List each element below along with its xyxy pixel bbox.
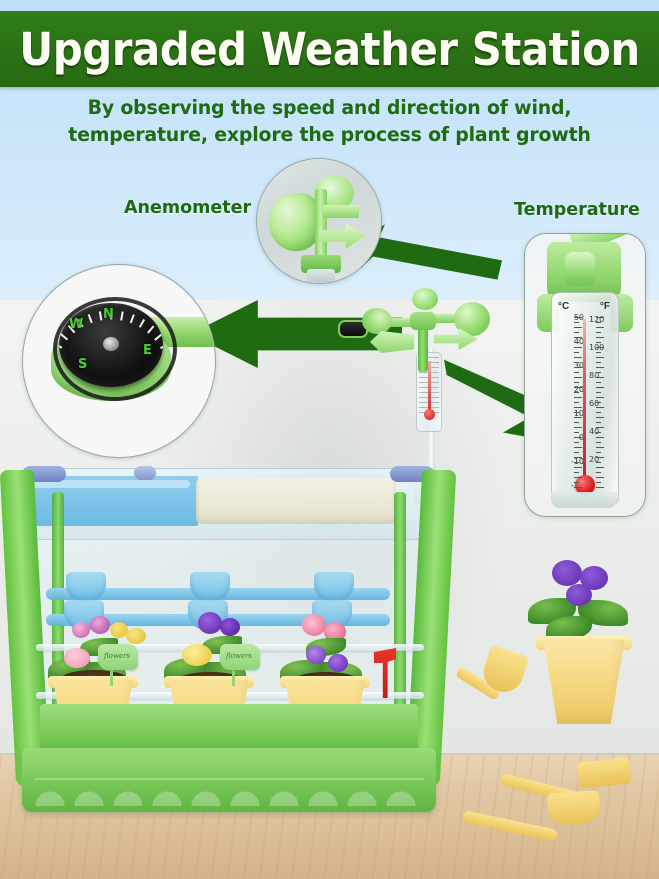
- thermometer-unit-fahrenheit: °F: [600, 301, 610, 312]
- thermometer-hatch: [596, 432, 601, 433]
- thermometer-hatch: [596, 357, 604, 358]
- thermometer-hatch: [596, 362, 601, 363]
- thermometer-hatch: [596, 447, 604, 448]
- thermometer-hatch: [596, 332, 601, 333]
- anemometer-detail-inset: [256, 158, 382, 284]
- rake-head-icon: [577, 757, 631, 788]
- thermometer-hatch: [574, 457, 582, 458]
- anemometer-arm: [323, 205, 359, 218]
- base-scallop-pattern: [34, 780, 424, 806]
- thermometer-detail-inset: °C °F 50 40 30 20 10 0 -10 -20 120 100 8…: [524, 233, 646, 517]
- thermometer-hatch: [596, 377, 604, 378]
- thermometer-hatch: [596, 392, 601, 393]
- compass-cardinal-e: E: [143, 343, 152, 358]
- thermometer-hatch: [596, 322, 601, 323]
- thermometer-hatch: [596, 487, 604, 488]
- roller-blind: [196, 478, 396, 524]
- thermometer-hatch: [574, 382, 579, 383]
- callout-label-temperature: Temperature: [514, 200, 640, 220]
- top-strip: [0, 0, 659, 11]
- outside-flower-1: [552, 560, 582, 586]
- plant-tag-stem-1: [110, 668, 113, 686]
- thermometer-hatch: [574, 342, 579, 343]
- plant-tag-2: flowers: [220, 644, 260, 670]
- thermometer-knob: [565, 252, 595, 286]
- thermometer-hatch: [596, 397, 604, 398]
- thermometer-hatch: [574, 367, 582, 368]
- greenhouse-product: flowers flowers: [6, 462, 450, 862]
- thermometer-hatch: [574, 392, 579, 393]
- top-flower-1a: [72, 622, 90, 638]
- thermometer-hatch: [596, 482, 601, 483]
- thermometer-hatch: [574, 357, 582, 358]
- thermometer-hatch: [574, 397, 582, 398]
- thermometer-hatch: [574, 472, 579, 473]
- anemometer-cup-left-icon: [362, 308, 392, 334]
- plant-tag-1: flowers: [98, 644, 138, 670]
- thermometer-mercury-column: [583, 319, 586, 481]
- anemometer-stem: [315, 189, 327, 263]
- thermometer-hatch: [574, 327, 582, 328]
- thermometer-hatch: [596, 382, 601, 383]
- thermometer-hatch: [596, 457, 604, 458]
- thermometer-hatch: [596, 442, 601, 443]
- thermometer-hatch: [596, 352, 601, 353]
- thermometer-hatch: [574, 427, 582, 428]
- thermometer-hatch: [596, 462, 601, 463]
- plant-tag-stem-2: [232, 668, 235, 686]
- anemometer-bearing: [307, 269, 335, 284]
- thermometer-hatch: [596, 472, 601, 473]
- compass-cardinal-w: W: [69, 317, 83, 332]
- product-marketing-image: Upgraded Weather Station By observing th…: [0, 0, 659, 879]
- outside-flower-3: [566, 584, 592, 606]
- page-subtitle: By observing the speed and direction of …: [35, 94, 624, 148]
- thermometer-hatch: [596, 477, 604, 478]
- compass-cardinal-n: N: [103, 307, 114, 322]
- thermometer-hatch: [596, 412, 601, 413]
- compass-detail-inset: N E S W: [22, 264, 216, 458]
- thermometer-hatch: [574, 447, 582, 448]
- top-flower-1d: [126, 628, 146, 644]
- anemometer-assembly: [360, 286, 490, 372]
- top-flower-1b: [90, 616, 110, 634]
- callout-label-anemometer: Anemometer: [124, 198, 251, 218]
- flower-3a: [306, 646, 326, 664]
- thermometer-hatch: [596, 422, 601, 423]
- thermometer-hatch: [596, 407, 604, 408]
- thermometer-hatch: [596, 347, 604, 348]
- thermometer-hatch: [596, 452, 601, 453]
- thermometer-hatch: [574, 477, 582, 478]
- thermometer-hatch: [574, 487, 582, 488]
- base-tray: [40, 704, 418, 750]
- thermometer-hatch: [574, 467, 582, 468]
- thermometer-hatch: [574, 317, 582, 318]
- anemometer-cup-top-icon: [412, 288, 438, 310]
- plant-tag-text-1: flowers: [104, 652, 130, 660]
- thermometer-foot: [551, 492, 617, 508]
- thermometer-hatch: [574, 422, 579, 423]
- thermometer-hatch: [574, 337, 582, 338]
- thermometer-tube: °C °F 50 40 30 20 10 0 -10 -20 120 100 8…: [551, 292, 619, 506]
- thermometer-hatch: [596, 372, 601, 373]
- thermometer-hatch: [574, 432, 579, 433]
- flower-2: [182, 644, 212, 666]
- plant-tag-text-2: flowers: [226, 652, 252, 660]
- anemometer-hub: [410, 312, 436, 330]
- thermometer-hatch: [596, 437, 604, 438]
- thermometer-hatch: [596, 317, 604, 318]
- compass-cardinal-s: S: [78, 357, 87, 372]
- thermometer-hatch: [574, 407, 582, 408]
- top-flower-2a: [198, 612, 222, 634]
- thermometer-hatch: [574, 322, 579, 323]
- thermometer-hatch: [574, 347, 582, 348]
- top-flower-3a: [302, 614, 326, 636]
- thermometer-hatch: [596, 342, 601, 343]
- thermometer-hatch: [574, 387, 582, 388]
- top-flower-2b: [220, 618, 240, 636]
- thermometer-hatch: [596, 387, 604, 388]
- thermometer-hatch: [596, 327, 604, 328]
- thermometer-hatch: [574, 332, 579, 333]
- thermometer-hatch: [596, 427, 604, 428]
- thermometer-hatch: [574, 452, 579, 453]
- thermometer-hatch: [574, 377, 582, 378]
- thermometer-hatch: [574, 412, 579, 413]
- thermometer-hatch: [574, 417, 582, 418]
- thermometer-hatch: [574, 442, 579, 443]
- thermometer-hatch: [596, 402, 601, 403]
- thermometer-hatch: [574, 482, 579, 483]
- roof-cap-middle: [134, 466, 156, 480]
- thermometer-hatch: [596, 417, 604, 418]
- thermometer-hatch: [574, 462, 579, 463]
- thermometer-hatch: [574, 352, 579, 353]
- flower-3b: [328, 654, 348, 672]
- page-title: Upgraded Weather Station: [23, 11, 636, 87]
- anemometer-cup-icon: [269, 193, 321, 251]
- thermometer-hatch: [574, 402, 579, 403]
- compass-bezel: [53, 297, 177, 401]
- thermometer-hatch: [574, 437, 582, 438]
- thermometer-hatch: [574, 372, 579, 373]
- flower-1: [64, 648, 90, 668]
- thermometer-main-bulb: [424, 409, 435, 420]
- thermometer-hatch: [596, 467, 604, 468]
- thermometer-hatch: [596, 337, 604, 338]
- thermometer-hatch: [596, 367, 604, 368]
- thermometer-unit-celsius: °C: [558, 301, 569, 312]
- thermometer-hatch: [574, 362, 579, 363]
